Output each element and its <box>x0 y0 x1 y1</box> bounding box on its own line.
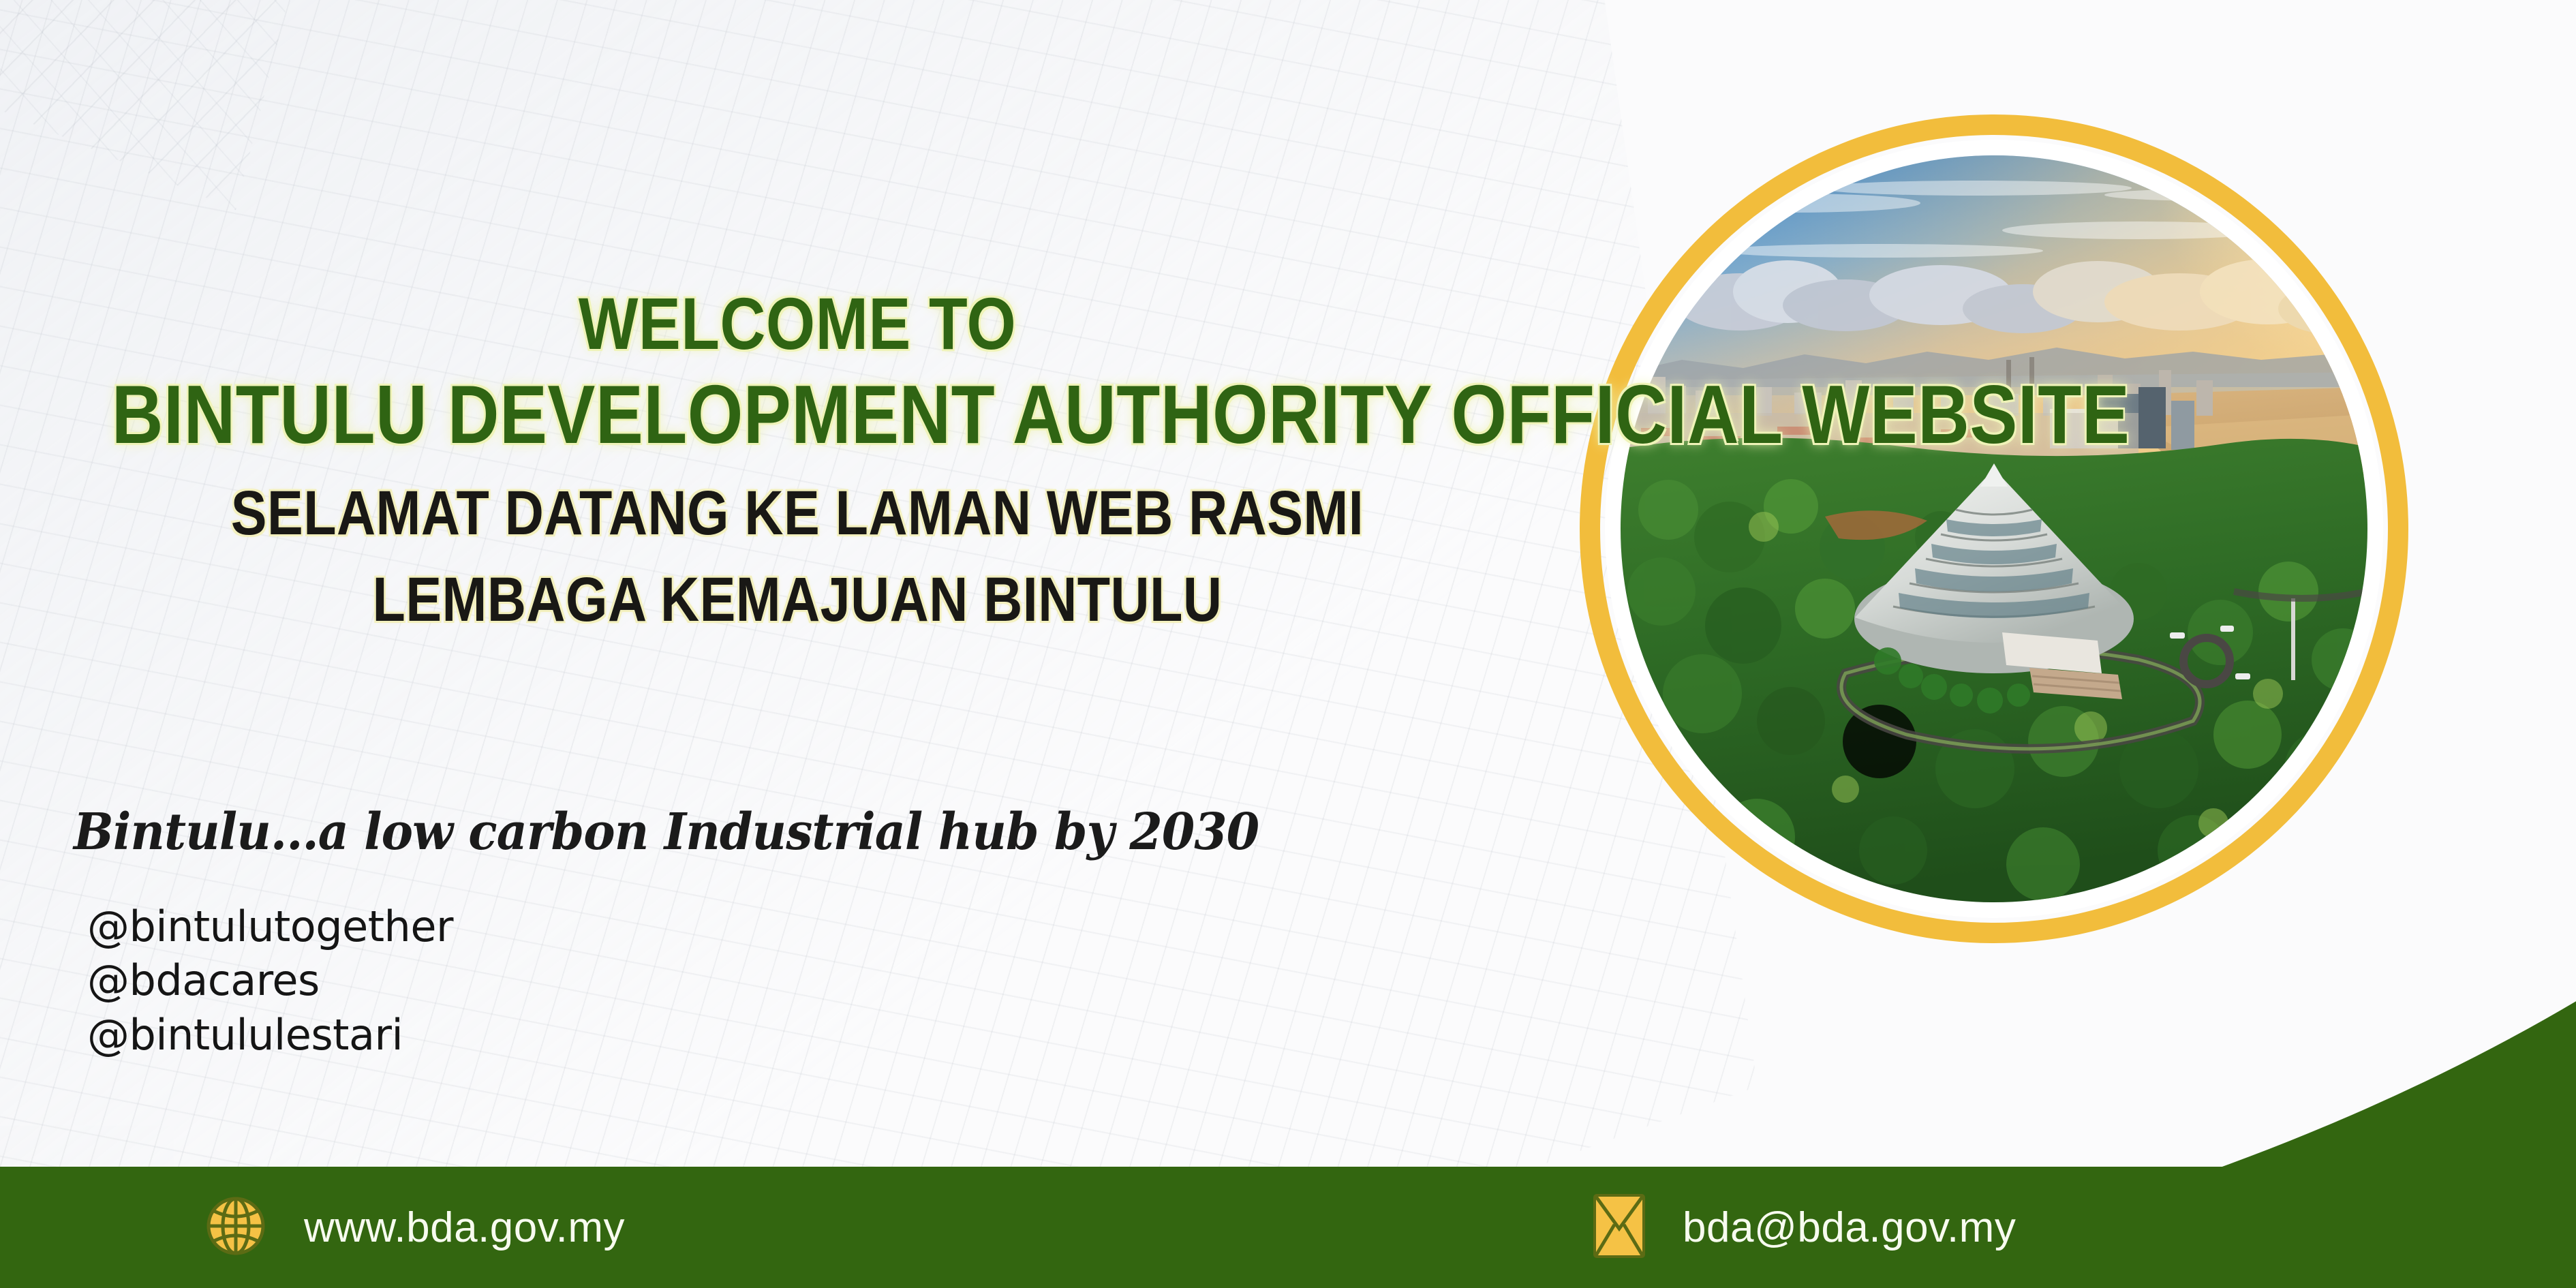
footer-website[interactable]: www.bda.gov.my <box>204 1195 625 1261</box>
glass-facade-texture-upper <box>0 0 417 210</box>
website-url[interactable]: www.bda.gov.my <box>304 1203 625 1252</box>
social-handles-list: @bintulutogether @bdacares @bintululesta… <box>87 900 453 1062</box>
glass-facade-texture <box>0 0 1758 1288</box>
globe-icon <box>204 1195 267 1261</box>
bintulu-council-building-photo <box>1621 155 2367 902</box>
envelope-icon <box>1593 1193 1646 1262</box>
footer-bar: www.bda.gov.my bda@bda.gov.my <box>0 1167 2576 1288</box>
email-address[interactable]: bda@bda.gov.my <box>1683 1203 2016 1252</box>
social-handle: @bintulutogether <box>87 900 453 953</box>
bda-welcome-banner: WELCOME TO BINTULU DEVELOPMENT AUTHORITY… <box>0 0 2576 1288</box>
tagline: Bintulu...a low carbon Industrial hub by… <box>74 803 1259 861</box>
social-handle: @bdacares <box>87 953 453 1007</box>
footer-email[interactable]: bda@bda.gov.my <box>1593 1193 2016 1262</box>
social-handle: @bintululestari <box>87 1008 453 1062</box>
